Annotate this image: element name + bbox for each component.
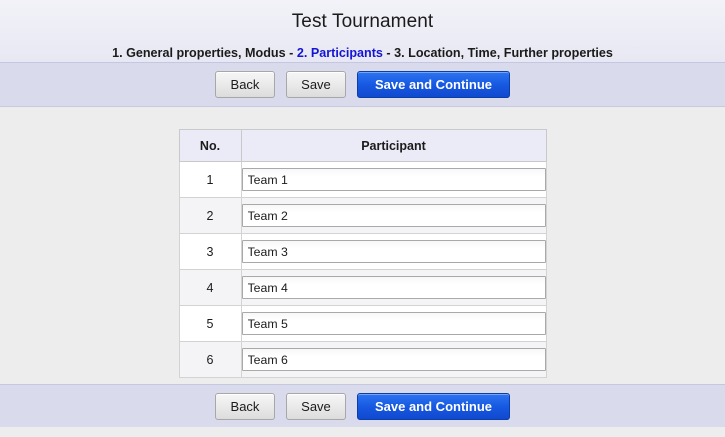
column-header-no: No. [179, 130, 241, 162]
row-number: 4 [179, 270, 241, 306]
row-number: 5 [179, 306, 241, 342]
breadcrumb-step-3[interactable]: 3. Location, Time, Further properties [394, 46, 613, 60]
table-row: 6 [179, 342, 546, 378]
participant-cell [241, 306, 546, 342]
participant-input[interactable] [242, 312, 546, 335]
breadcrumb-step-1[interactable]: 1. General properties, Modus [112, 46, 286, 60]
back-button-bottom[interactable]: Back [215, 393, 275, 420]
page-header: Test Tournament 1. General properties, M… [0, 0, 725, 62]
row-number: 1 [179, 162, 241, 198]
back-button-top[interactable]: Back [215, 71, 275, 98]
toolbar-top: Back Save Save and Continue [0, 62, 725, 107]
participant-cell [241, 270, 546, 306]
table-header-row: No. Participant [179, 130, 546, 162]
save-and-continue-button-top[interactable]: Save and Continue [357, 71, 510, 98]
column-header-participant: Participant [241, 130, 546, 162]
participants-table: No. Participant 1 2 3 [179, 129, 547, 378]
table-body: 1 2 3 4 [179, 162, 546, 378]
main-content: No. Participant 1 2 3 [0, 107, 725, 384]
save-button-bottom[interactable]: Save [286, 393, 346, 420]
participant-input[interactable] [242, 204, 546, 227]
participant-cell [241, 162, 546, 198]
table-row: 5 [179, 306, 546, 342]
breadcrumb-step-2[interactable]: 2. Participants [297, 46, 383, 60]
table-row: 2 [179, 198, 546, 234]
row-number: 6 [179, 342, 241, 378]
table-head: No. Participant [179, 130, 546, 162]
toolbar-bottom: Back Save Save and Continue [0, 384, 725, 427]
table-row: 3 [179, 234, 546, 270]
breadcrumb: 1. General properties, Modus - 2. Partic… [0, 46, 725, 60]
table-row: 1 [179, 162, 546, 198]
participant-cell [241, 198, 546, 234]
participant-input[interactable] [242, 348, 546, 371]
participant-input[interactable] [242, 276, 546, 299]
breadcrumb-separator-2: - [383, 46, 394, 60]
participant-input[interactable] [242, 168, 546, 191]
row-number: 2 [179, 198, 241, 234]
page-title: Test Tournament [0, 9, 725, 33]
participant-cell [241, 234, 546, 270]
breadcrumb-separator-1: - [286, 46, 297, 60]
table-row: 4 [179, 270, 546, 306]
row-number: 3 [179, 234, 241, 270]
save-button-top[interactable]: Save [286, 71, 346, 98]
save-and-continue-button-bottom[interactable]: Save and Continue [357, 393, 510, 420]
participant-cell [241, 342, 546, 378]
participant-input[interactable] [242, 240, 546, 263]
